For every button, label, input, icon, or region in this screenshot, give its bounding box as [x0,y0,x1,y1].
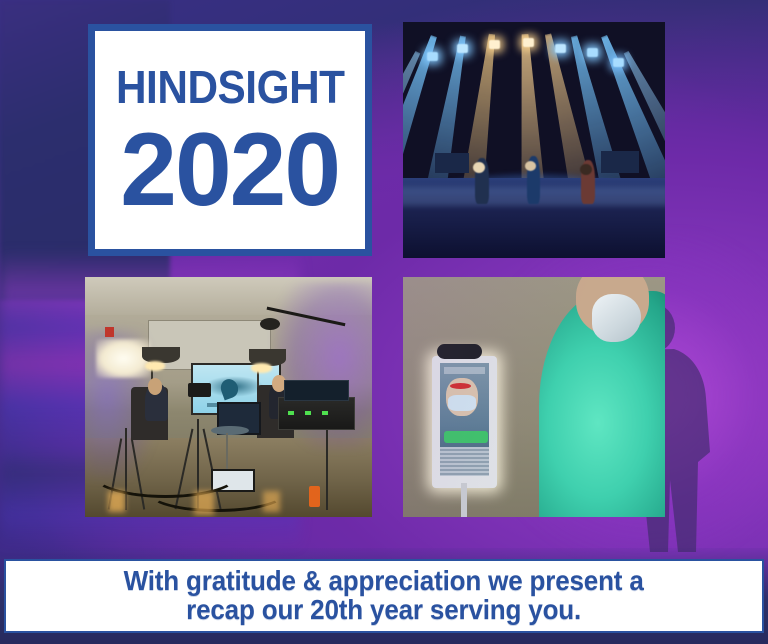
photo-temperature-kiosk [403,277,665,517]
title-line-hindsight: HINDSIGHT [116,66,345,110]
photo-video-studio [85,277,372,517]
banner-text: With gratitude & appreciation we present… [124,567,644,624]
photo-concert-stage [403,22,665,258]
title-card: HINDSIGHT 2020 [88,24,372,256]
poster-canvas: HINDSIGHT 2020 [0,0,768,644]
bottom-banner: With gratitude & appreciation we present… [4,559,764,633]
title-line-year: 2020 [121,124,340,218]
